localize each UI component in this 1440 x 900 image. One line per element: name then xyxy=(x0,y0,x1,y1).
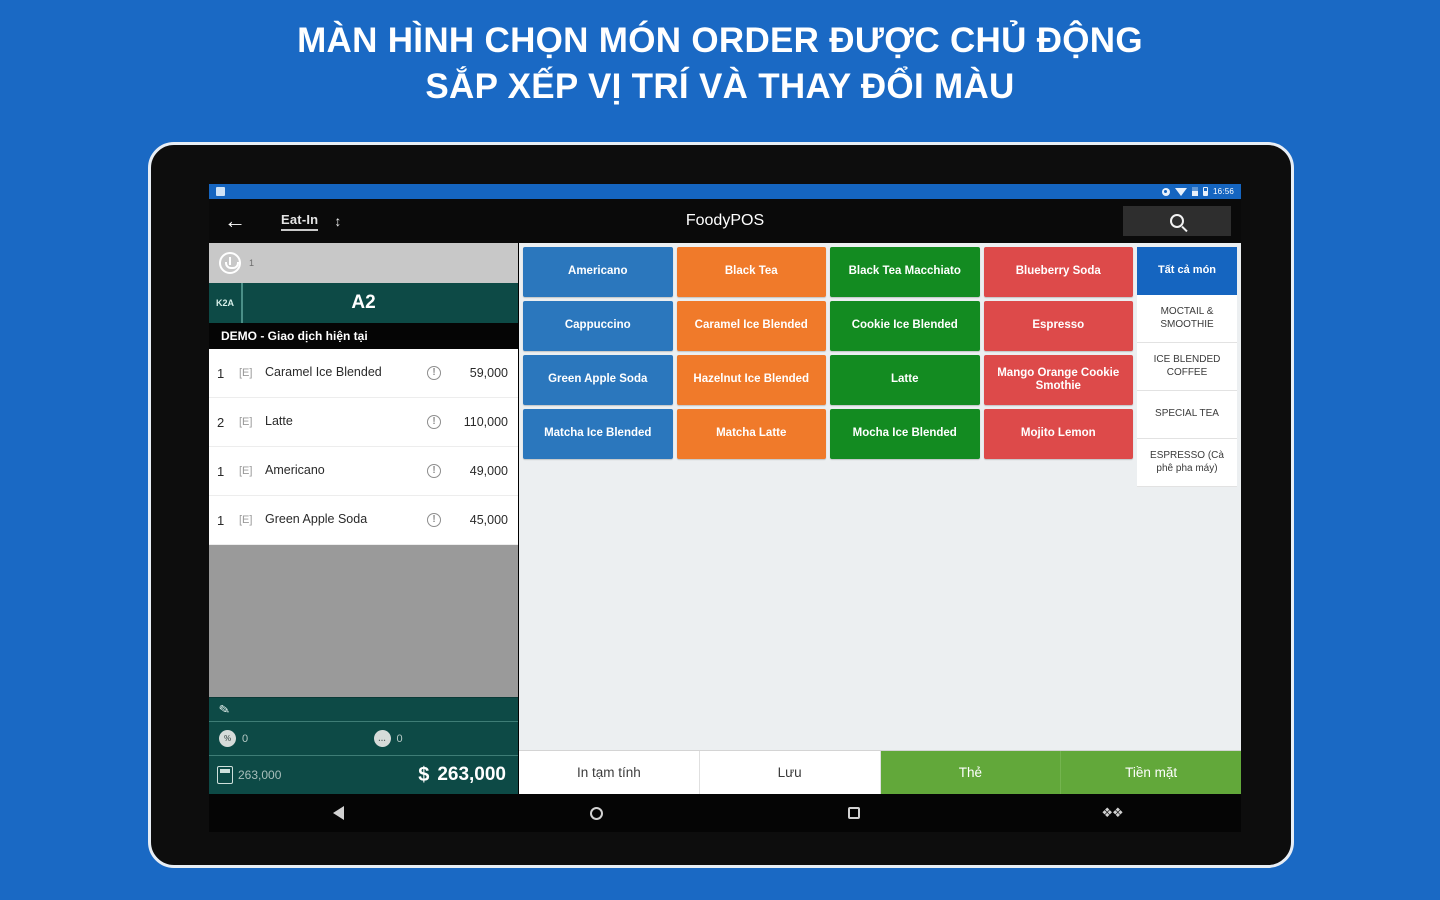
product-button[interactable]: Green Apple Soda xyxy=(523,355,673,405)
item-tag: [E] xyxy=(239,465,265,477)
app-bar: ← Eat-In ↕ FoodyPOS xyxy=(209,199,1241,243)
tablet-screen: 16:56 ← Eat-In ↕ FoodyPOS xyxy=(209,184,1241,832)
category-item-espresso[interactable]: ESPRESSO (Cà phê pha máy) xyxy=(1137,439,1237,487)
product-button[interactable]: Cookie Ice Blended xyxy=(830,301,980,351)
search-icon xyxy=(1170,214,1184,228)
order-items-list: 1 [E] Caramel Ice Blended ! 59,000 2 [E]… xyxy=(209,349,518,545)
person-icon xyxy=(219,252,241,274)
calculator-icon xyxy=(217,766,233,784)
headline-line-2: SẮP XẾP VỊ TRÍ VÀ THAY ĐỔI MÀU xyxy=(0,64,1440,110)
order-mode-label[interactable]: Eat-In xyxy=(281,212,318,231)
adjustments-row: % 0 … 0 xyxy=(209,722,518,756)
wifi-icon xyxy=(1175,188,1187,196)
item-price: 49,000 xyxy=(446,464,508,478)
category-rail: Tất cả món MOCTAIL & SMOOTHIE ICE BLENDE… xyxy=(1137,243,1241,750)
item-info-button[interactable]: ! xyxy=(422,513,446,527)
guest-count-value: 1 xyxy=(249,258,254,268)
item-name: Green Apple Soda xyxy=(265,512,422,527)
item-info-button[interactable]: ! xyxy=(422,366,446,380)
status-time: 16:56 xyxy=(1213,187,1234,196)
item-quantity: 1 xyxy=(217,513,239,528)
product-button[interactable]: Matcha Latte xyxy=(677,409,827,459)
nav-recents-icon xyxy=(848,807,860,819)
item-info-button[interactable]: ! xyxy=(422,464,446,478)
item-price: 59,000 xyxy=(446,366,508,380)
signal-icon xyxy=(1192,187,1198,196)
item-name: Americano xyxy=(265,463,422,478)
grand-total-value: 263,000 xyxy=(437,764,506,786)
item-price: 45,000 xyxy=(446,513,508,527)
product-button[interactable]: Americano xyxy=(523,247,673,297)
nav-extra-button[interactable]: ❖❖ xyxy=(983,805,1241,821)
android-status-bar: 16:56 xyxy=(209,184,1241,199)
pencil-icon[interactable]: ✎ xyxy=(218,701,232,719)
info-icon: ! xyxy=(427,366,441,380)
save-button[interactable]: Lưu xyxy=(700,751,881,794)
item-info-button[interactable]: ! xyxy=(422,415,446,429)
app-screen: 16:56 ← Eat-In ↕ FoodyPOS xyxy=(209,184,1241,794)
transaction-label: DEMO - Giao dịch hiện tại xyxy=(209,323,518,349)
nav-back-icon xyxy=(333,806,344,820)
product-button[interactable]: Latte xyxy=(830,355,980,405)
product-button[interactable]: Caramel Ice Blended xyxy=(677,301,827,351)
print-provisional-button[interactable]: In tạm tính xyxy=(519,751,700,794)
product-button[interactable]: Hazelnut Ice Blended xyxy=(677,355,827,405)
discount-icon: % xyxy=(219,730,236,747)
order-item-row[interactable]: 1 [E] Caramel Ice Blended ! 59,000 xyxy=(209,349,518,398)
info-icon: ! xyxy=(427,415,441,429)
table-zone-code: K2A xyxy=(209,283,243,323)
item-quantity: 2 xyxy=(217,415,239,430)
category-item-all[interactable]: Tất cả món xyxy=(1137,247,1237,295)
item-quantity: 1 xyxy=(217,464,239,479)
action-bar: In tạm tính Lưu Thẻ Tiền mặt xyxy=(519,750,1241,794)
discount-cell[interactable]: % 0 xyxy=(209,730,364,747)
order-item-row[interactable]: 1 [E] Americano ! 49,000 xyxy=(209,447,518,496)
promo-headline: MÀN HÌNH CHỌN MÓN ORDER ĐƯỢC CHỦ ĐỘNG SẮ… xyxy=(0,18,1440,110)
screen-body: 1 K2A A2 DEMO - Giao dịch hiện tại 1 [E]… xyxy=(209,243,1241,794)
product-grid: Americano Black Tea Black Tea Macchiato … xyxy=(519,243,1137,750)
battery-icon xyxy=(1203,187,1208,196)
item-tag: [E] xyxy=(239,416,265,428)
item-price: 110,000 xyxy=(446,415,508,429)
back-arrow-icon[interactable]: ← xyxy=(217,203,253,239)
info-icon: ! xyxy=(427,513,441,527)
product-button[interactable]: Mango Orange Cookie Smothie xyxy=(984,355,1134,405)
edit-note-row[interactable]: ✎ xyxy=(209,698,518,722)
product-button[interactable]: Blueberry Soda xyxy=(984,247,1134,297)
location-icon xyxy=(1162,188,1170,196)
subtotal-value: 263,000 xyxy=(238,768,281,782)
headline-line-1: MÀN HÌNH CHỌN MÓN ORDER ĐƯỢC CHỦ ĐỘNG xyxy=(297,21,1143,60)
order-item-row[interactable]: 1 [E] Green Apple Soda ! 45,000 xyxy=(209,496,518,545)
order-mode-selector[interactable]: Eat-In ↕ xyxy=(281,212,340,231)
menu-area: Americano Black Tea Black Tea Macchiato … xyxy=(519,243,1241,794)
grand-total-row: 263,000 $ 263,000 xyxy=(209,756,518,794)
nav-home-button[interactable] xyxy=(467,807,725,820)
product-button[interactable]: Black Tea Macchiato xyxy=(830,247,980,297)
item-tag: [E] xyxy=(239,514,265,526)
item-name: Caramel Ice Blended xyxy=(265,365,422,380)
order-totals: ✎ % 0 … 0 xyxy=(209,697,518,794)
nav-recents-button[interactable] xyxy=(725,807,983,819)
search-button[interactable] xyxy=(1123,206,1231,236)
product-button[interactable]: Black Tea xyxy=(677,247,827,297)
surcharge-value: 0 xyxy=(397,733,403,745)
dollar-icon: $ xyxy=(418,764,429,787)
subtotal-group: 263,000 xyxy=(217,766,418,784)
nav-back-button[interactable] xyxy=(209,806,467,820)
status-left xyxy=(216,187,225,196)
android-nav-bar: ❖❖ xyxy=(209,794,1241,832)
table-name: A2 xyxy=(243,292,518,314)
category-item-ice-blended-coffee[interactable]: ICE BLENDED COFFEE xyxy=(1137,343,1237,391)
total-group: $ 263,000 xyxy=(418,764,506,787)
discount-value: 0 xyxy=(242,733,248,745)
nav-screenshot-icon: ❖❖ xyxy=(1101,805,1122,821)
surcharge-cell[interactable]: … 0 xyxy=(364,730,519,747)
product-button[interactable]: Cappuccino xyxy=(523,301,673,351)
product-button[interactable]: Mocha Ice Blended xyxy=(830,409,980,459)
category-item-moctail-smoothie[interactable]: MOCTAIL & SMOOTHIE xyxy=(1137,295,1237,343)
info-icon: ! xyxy=(427,464,441,478)
swap-vertical-icon[interactable]: ↕ xyxy=(334,214,340,228)
order-item-row[interactable]: 2 [E] Latte ! 110,000 xyxy=(209,398,518,447)
product-button[interactable]: Mojito Lemon xyxy=(984,409,1134,459)
card-payment-button[interactable]: Thẻ xyxy=(881,751,1062,794)
product-button[interactable]: Matcha Ice Blended xyxy=(523,409,673,459)
table-header[interactable]: K2A A2 xyxy=(209,283,518,323)
order-list-empty-space xyxy=(209,545,518,697)
item-quantity: 1 xyxy=(217,366,239,381)
item-name: Latte xyxy=(265,414,422,429)
order-panel: 1 K2A A2 DEMO - Giao dịch hiện tại 1 [E]… xyxy=(209,243,519,794)
menu-body: Americano Black Tea Black Tea Macchiato … xyxy=(519,243,1241,750)
guest-count-bar[interactable]: 1 xyxy=(209,243,518,283)
page-title: FoodyPOS xyxy=(209,212,1241,230)
status-right: 16:56 xyxy=(1162,187,1234,196)
tablet-device-frame: 16:56 ← Eat-In ↕ FoodyPOS xyxy=(148,142,1294,868)
app-notification-icon xyxy=(216,187,225,196)
surcharge-icon: … xyxy=(374,730,391,747)
cash-payment-button[interactable]: Tiền mặt xyxy=(1061,751,1241,794)
product-button[interactable]: Espresso xyxy=(984,301,1134,351)
category-item-special-tea[interactable]: SPECIAL TEA xyxy=(1137,391,1237,439)
nav-home-icon xyxy=(590,807,603,820)
item-tag: [E] xyxy=(239,367,265,379)
